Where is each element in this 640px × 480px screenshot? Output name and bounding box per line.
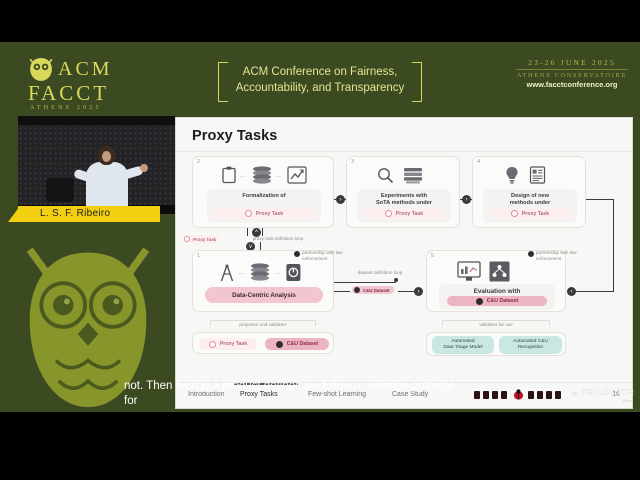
output-cu-recognition: Automated C&U Recognition (499, 336, 562, 354)
ellipsis-icon-b: ··· (276, 174, 282, 180)
card-title-2: Formalization of (211, 193, 317, 200)
output-2-l1: Automated C&U (513, 339, 548, 344)
chip-label-3: Proxy Task (396, 211, 423, 217)
conference-date: 23-26 JUNE 2025 (516, 58, 628, 69)
label-partnership-2: partnership with law enforcement (536, 250, 582, 261)
arrow-knob-right-1: › (336, 195, 345, 204)
magnifier-icon (377, 167, 394, 184)
slide-title: Proxy Tasks (192, 128, 277, 144)
conference-title: ACM Conference on Fairness, Accountabili… (230, 64, 410, 96)
connector-to-group-5 (572, 291, 614, 292)
line-chart-icon (287, 166, 307, 184)
letterbox-bottom (0, 412, 640, 480)
projector-logo: by PROJECTOR Web (572, 387, 634, 404)
chip-proxy-task-4: Proxy Task (491, 208, 569, 219)
books-icon (403, 167, 423, 184)
ceiling (18, 116, 176, 125)
banner-arrow (8, 206, 20, 222)
sponsor-logos: by PROJECTOR Web (474, 386, 634, 404)
legend-row: Proxy Task C&U Dataset (192, 332, 334, 354)
proxy-task-dot-icon (385, 210, 392, 217)
label-proxy-task-loop: proxy task definition loop (226, 236, 330, 242)
legend-chip-cu-dataset: C&U Dataset (265, 338, 329, 350)
loop-line-up (247, 228, 248, 236)
document-icon (529, 166, 546, 184)
label-validates-for-use: validates for use (442, 322, 550, 328)
projector-name: PROJECTOR (582, 388, 634, 397)
card-evaluation: Evaluation with C&U Dataset (439, 284, 555, 310)
chip-label-4: Proxy Task (522, 211, 549, 217)
dataset-loop-endpoint (394, 278, 398, 282)
owl-icon (28, 56, 54, 82)
group-number-4: 4 (477, 159, 480, 165)
loop-line-up-2 (262, 228, 263, 236)
proxy-task-dot-icon (209, 341, 216, 348)
legend-label-cu-dataset: C&U Dataset (287, 341, 318, 347)
arrow-knob-right-2: › (462, 195, 471, 204)
conference-url: www.facctconference.org (516, 79, 628, 89)
group-number-5: 5 (431, 253, 434, 259)
chip-proxy-task-2: Proxy Task (215, 208, 313, 219)
card-title-4-l2: methods under (510, 200, 550, 206)
title-line-2: Accountability, and Transparency (230, 80, 410, 96)
connector-4-right (586, 199, 614, 200)
group-number-1: 1 (197, 253, 200, 259)
card-title-4: Design of new methods under (487, 193, 573, 207)
card-title-5: Evaluation with (443, 288, 551, 295)
outputs-row: Automated Data Triage Model Automated C&… (426, 332, 566, 356)
card-title-3: Experiments with SoTA methods under (361, 193, 447, 207)
ellipsis-icon-d: ··· (274, 271, 280, 277)
cu-dataset-dot-icon (276, 341, 283, 348)
video-player-stage: ACM FACCT ATHENS 2025 ACM Conference on … (0, 0, 640, 480)
chip-cu-dataset-5: C&U Dataset (447, 296, 547, 306)
output-1-l2: Data Triage Model (443, 345, 482, 350)
ministry-logo (474, 388, 562, 402)
ellipsis-icon-c: ··· (238, 271, 244, 277)
bracket-right (412, 62, 422, 102)
output-2-l2: Recognition (518, 345, 543, 350)
acm-facct-logo: ACM FACCT ATHENS 2025 (26, 56, 146, 118)
card-formalization: Formalization of Proxy Task (207, 189, 321, 223)
legend-label-proxy-task: Proxy Task (220, 341, 247, 347)
dataset-loop-line-top (334, 282, 396, 283)
legend-chip-proxy-task: Proxy Task (199, 338, 257, 350)
label-proposes-validates: proposes and validates (210, 322, 316, 328)
chip-label-5: C&U Dataset (487, 298, 518, 304)
bracket-validates (442, 320, 550, 321)
group-number-2: 2 (197, 159, 200, 165)
legend-chip-proxy-loop: Proxy Task (182, 235, 220, 243)
chip-cu-dataset-center: C&U Dataset (352, 286, 394, 294)
database-icon (249, 263, 271, 282)
diagram-group-2: 2 ··· ··· (192, 156, 334, 228)
chip-cu-dataset-center-label: C&U Dataset (363, 288, 390, 293)
lightbulb-icon (505, 166, 519, 184)
speaker-face (102, 151, 111, 162)
card-title-3-l1: Experiments with (381, 193, 427, 199)
dataset-loop-line-left (334, 291, 350, 292)
connector-right-vertical (613, 199, 614, 291)
cu-dataset-dot-icon (354, 287, 360, 293)
arrow-knob-left-1: ‹ (567, 287, 576, 296)
monitor-chart-icon (457, 261, 481, 282)
speaker-name-banner: L. S. F. Ribeiro (18, 206, 160, 222)
card-design: Design of new methods under Proxy Task (483, 189, 577, 223)
label-partnership-1: partnership with law enforcement (302, 250, 346, 261)
chip-proxy-task-3: Proxy Task (365, 208, 443, 219)
bracket-left (218, 62, 228, 102)
network-icon (489, 261, 510, 282)
cu-dataset-dot-icon (476, 298, 483, 305)
arrow-knob-right-3: › (414, 287, 423, 296)
output-data-triage-model: Automated Data Triage Model (432, 336, 494, 354)
subtitle-caption: not. Then having a product defines we fo… (124, 379, 464, 409)
conference-stream: ACM FACCT ATHENS 2025 ACM Conference on … (0, 42, 640, 412)
chip-label-2: Proxy Task (256, 211, 283, 217)
card-experiments: Experiments with SoTA methods under Prox… (357, 189, 451, 223)
conference-venue: ATHENS CONSERVATOIRE (516, 69, 628, 79)
presentation-slide: Proxy Tasks 2 ··· (176, 118, 632, 408)
bracket-proposes (210, 320, 316, 321)
group-number-3: 3 (351, 159, 354, 165)
ladybug-icon (513, 389, 524, 400)
refresh-document-icon (285, 263, 302, 282)
proxy-task-dot-icon (184, 236, 190, 242)
speaker-hand (140, 164, 148, 172)
conference-info: 23-26 JUNE 2025 ATHENS CONSERVATOIRE www… (516, 58, 628, 89)
legend-chip-proxy-loop-label: Proxy Task (193, 237, 216, 242)
loop-knob-up: ^ (252, 228, 261, 237)
label-dataset-loop: dataset definition loop (346, 270, 414, 276)
acm-wordmark: ACM (58, 58, 113, 81)
loop-line-down (260, 242, 261, 250)
card-title-4-l1: Design of new (511, 193, 549, 199)
projector-sub: Web (572, 397, 634, 404)
conference-title-plate: ACM Conference on Fairness, Accountabili… (218, 60, 422, 104)
partnership-dot-icon (528, 251, 534, 257)
database-icon (251, 166, 273, 184)
pill-data-centric-analysis: Data-Centric Analysis (205, 287, 323, 303)
letterbox-top (0, 0, 640, 42)
title-line-1: ACM Conference on Fairness, (230, 64, 410, 80)
speaker-name: L. S. F. Ribeiro (40, 208, 110, 219)
speaker-video (18, 116, 176, 214)
chair (46, 178, 74, 202)
clipboard-icon (221, 166, 237, 184)
output-1-l1: Automated (451, 339, 474, 344)
ellipsis-icon-a: ··· (240, 174, 246, 180)
diagram-canvas: 2 ··· ··· (176, 152, 632, 374)
card-title-3-l2: SoTA methods under (376, 200, 432, 206)
proxy-task-dot-icon (511, 210, 518, 217)
diagram-group-3: 3 Experiments with SoTA me (346, 156, 460, 228)
proxy-task-dot-icon (245, 210, 252, 217)
compass-icon (219, 263, 235, 283)
diagram-group-4: 4 (472, 156, 586, 228)
partnership-dot-icon (294, 251, 300, 257)
projector-prefix: by (572, 391, 577, 396)
athens-wordmark: ATHENS 2025 (30, 105, 102, 111)
facct-wordmark: FACCT (28, 81, 109, 106)
